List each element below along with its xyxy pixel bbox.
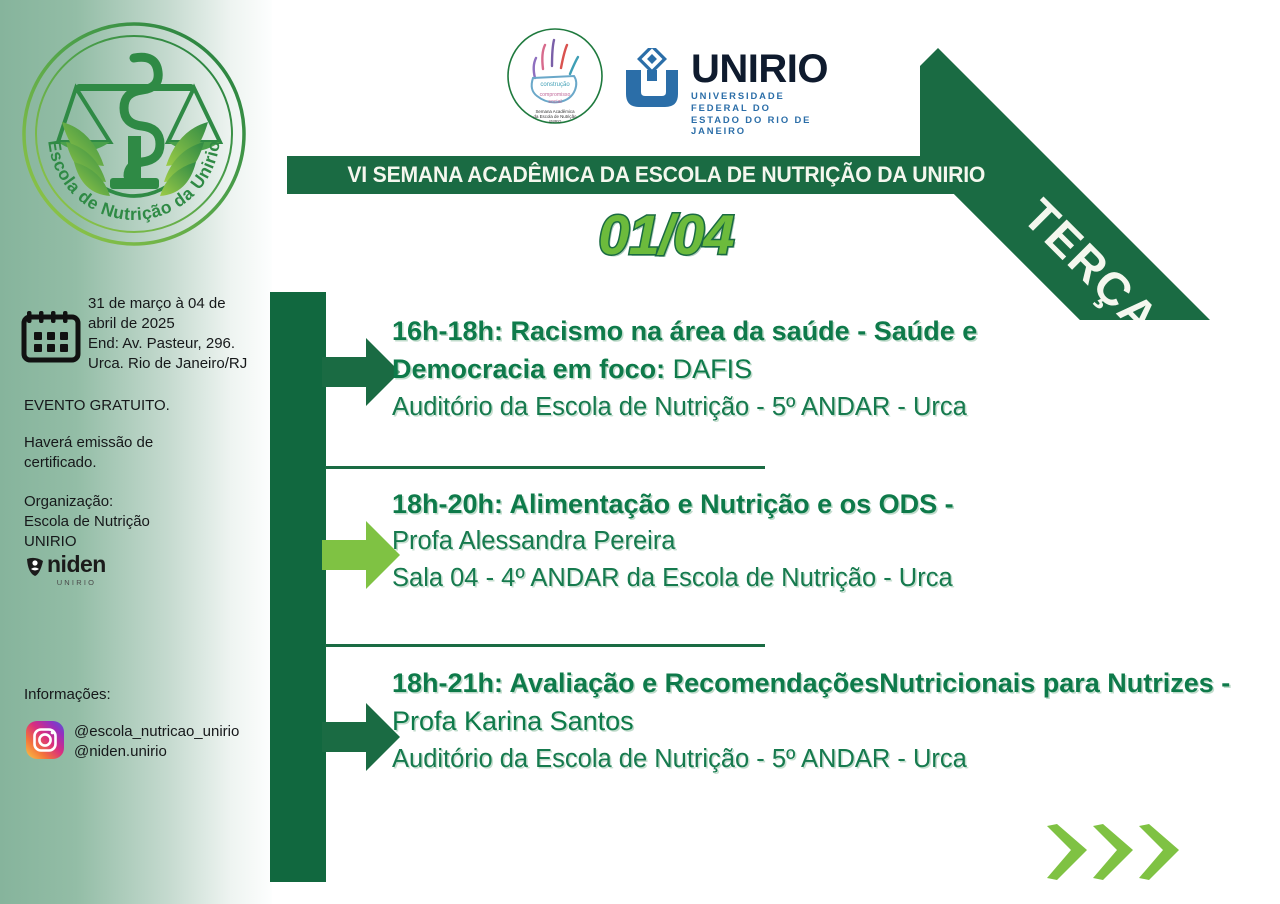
address-line: 31 de março à 04 de: [88, 294, 248, 314]
event-location: Auditório da Escola de Nutrição - 5º AND…: [392, 389, 1264, 425]
unirio-subtitle-line2: ESTADO DO RIO DE JANEIRO: [691, 114, 835, 138]
event-title: 18h-21h: Avaliação e RecomendaçõesNutric…: [392, 664, 1264, 741]
social-handles: @escola_nutricao_unirio @niden.unirio: [74, 722, 239, 762]
badge-palm-word-2: compromisso: [540, 92, 571, 98]
free-event-note: EVENTO GRATUITO.: [24, 396, 234, 416]
niden-mark-icon: [24, 555, 46, 577]
event-item: 16h-18h: Racismo na área da saúde - Saúd…: [392, 312, 1264, 425]
niden-logo: niden UNIRIO: [24, 553, 106, 587]
event-arrow-icon: [322, 335, 400, 409]
event-title-suffix: Profa Karina Santos: [392, 706, 634, 736]
organization-line: Escola de Nutrição: [24, 512, 234, 532]
organization-line: Organização:: [24, 492, 234, 512]
badge-palm-word-3: social: [548, 99, 561, 105]
badge-palm-word: construção: [540, 82, 570, 88]
address-line: Urca. Rio de Janeiro/RJ: [88, 354, 248, 374]
organization-line: UNIRIO: [24, 532, 234, 552]
event-title-line2: Democracia em foco:: [392, 354, 665, 384]
title-banner-label: VI SEMANA ACADÊMICA DA ESCOLA DE NUTRIÇÃ…: [347, 162, 985, 188]
event-arrow-icon: [322, 518, 400, 592]
escola-nutricao-logo: Escola de Nutrição da Unirio: [18, 18, 250, 250]
event-title-suffix: DAFIS: [665, 354, 752, 384]
event-speaker: Profa Alessandra Pereira: [392, 523, 1264, 559]
organization-note: Organização: Escola de Nutrição UNIRIO: [24, 492, 234, 552]
unirio-wordmark: UNIRIO: [691, 50, 835, 88]
unirio-logo: UNIRIO UNIVERSIDADE FEDERAL DO ESTADO DO…: [623, 48, 835, 137]
event-arrow-icon: [322, 700, 400, 774]
event-divider: [325, 466, 765, 469]
certificate-note-line: certificado.: [24, 453, 234, 473]
info-label: Informações:: [24, 686, 111, 703]
niden-wordmark: niden: [47, 553, 106, 576]
poster-date: 01/04: [287, 202, 1045, 267]
day-ribbon-label: TERÇA-FEIRA: [1013, 188, 1280, 320]
badge-caption-3: UNIRIO: [549, 120, 562, 124]
niden-subtitle: UNIRIO: [47, 578, 106, 587]
event-item: 18h-20h: Alimentação e Nutrição e os ODS…: [392, 485, 1264, 596]
address-line: End: Av. Pasteur, 296.: [88, 334, 248, 354]
semana-academica-badge: construção compromisso social Semana Aca…: [505, 26, 605, 126]
event-title: 18h-20h: Alimentação e Nutrição e os ODS…: [392, 485, 1264, 523]
calendar-icon: [20, 302, 82, 364]
event-title-line2: Nutricionais para Nutrizes -: [879, 668, 1230, 698]
chevron-group-icon: [1045, 822, 1195, 882]
event-title-line1: 16h-18h: Racismo na área da saúde - Saúd…: [392, 312, 1264, 350]
event-title-line1: 18h-21h: Avaliação e Recomendações: [392, 668, 879, 698]
event-divider: [325, 644, 765, 647]
event-title: 16h-18h: Racismo na área da saúde - Saúd…: [392, 312, 1264, 389]
unirio-mark-icon: [623, 48, 681, 110]
instagram-icon[interactable]: [26, 721, 64, 759]
unirio-text-group: UNIRIO UNIVERSIDADE FEDERAL DO ESTADO DO…: [691, 50, 835, 137]
certificate-note-line: Haverá emissão de: [24, 433, 234, 453]
event-location: Auditório da Escola de Nutrição - 5º AND…: [392, 741, 1264, 777]
event-title-line1: 18h-20h: Alimentação e Nutrição e os ODS…: [392, 489, 954, 519]
unirio-subtitle-line1: UNIVERSIDADE FEDERAL DO: [691, 90, 835, 114]
handle-niden[interactable]: @niden.unirio: [74, 742, 239, 762]
niden-text-group: niden UNIRIO: [47, 553, 106, 587]
certificate-note: Haverá emissão de certificado.: [24, 433, 234, 473]
timeline-bar: [270, 292, 326, 882]
event-item: 18h-21h: Avaliação e RecomendaçõesNutric…: [392, 664, 1264, 777]
badge-caption-2: da Escola de Nutrição: [534, 114, 578, 119]
title-banner: VI SEMANA ACADÊMICA DA ESCOLA DE NUTRIÇÃ…: [287, 156, 1045, 194]
unirio-subtitle: UNIVERSIDADE FEDERAL DO ESTADO DO RIO DE…: [691, 90, 835, 137]
address-line: abril de 2025: [88, 314, 248, 334]
event-location: Sala 04 - 4º ANDAR da Escola de Nutrição…: [392, 560, 1264, 596]
top-logo-group: construção compromisso social Semana Aca…: [505, 20, 835, 130]
event-poster: Escola de Nutrição da Unirio 31: [0, 0, 1280, 904]
handle-escola[interactable]: @escola_nutricao_unirio: [74, 722, 239, 742]
event-address: 31 de março à 04 de abril de 2025 End: A…: [88, 294, 248, 374]
